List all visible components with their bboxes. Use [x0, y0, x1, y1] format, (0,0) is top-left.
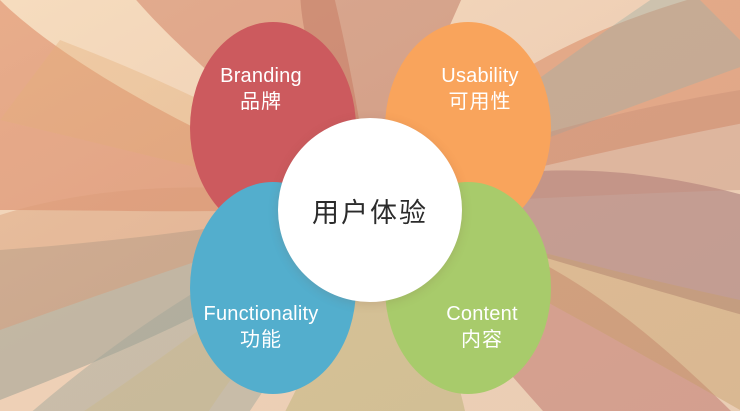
node-content-label-zh: 内容	[446, 329, 517, 353]
node-usability-label-zh: 可用性	[441, 91, 518, 115]
center-node-user-experience[interactable]: 用户体验	[278, 118, 462, 302]
node-content-text: Content 内容	[446, 303, 517, 352]
node-functionality-label-en: Functionality	[204, 303, 319, 327]
node-usability-label-en: Usability	[441, 65, 518, 89]
node-functionality-label-zh: 功能	[204, 329, 319, 353]
center-node-label: 用户体验	[312, 191, 428, 230]
diagram-canvas: Branding 品牌 Usability 可用性 Functionality …	[0, 0, 740, 411]
node-branding-label-en: Branding	[220, 65, 302, 89]
node-functionality-text: Functionality 功能	[204, 303, 319, 352]
node-content-label-en: Content	[446, 303, 517, 327]
node-branding-label-zh: 品牌	[220, 91, 302, 115]
node-usability-text: Usability 可用性	[441, 65, 518, 114]
node-branding-text: Branding 品牌	[220, 65, 302, 114]
